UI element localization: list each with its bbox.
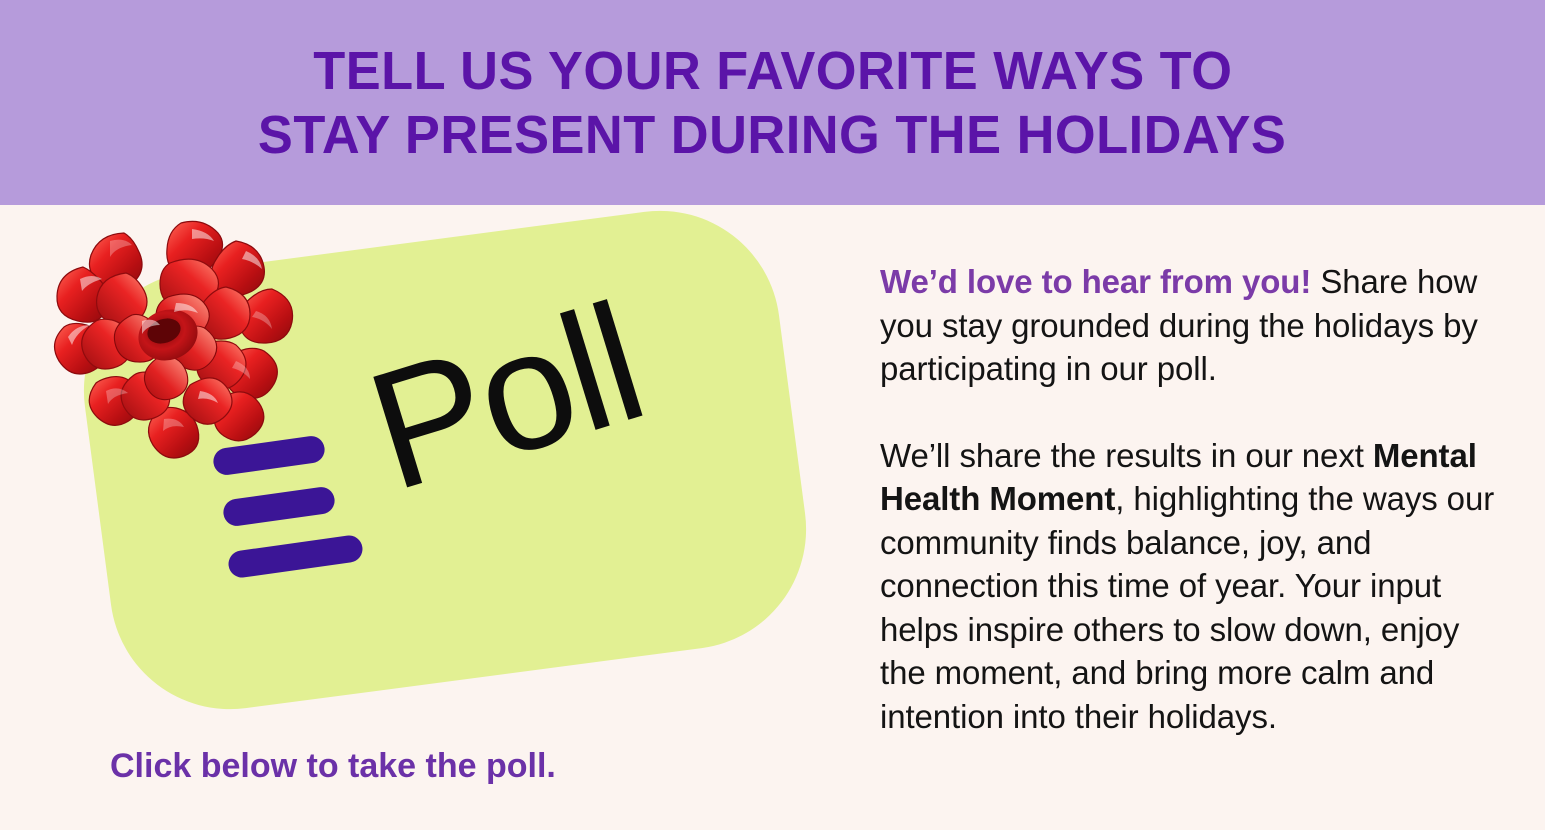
main-content: Poll <box>0 205 1545 830</box>
gift-bow-icon <box>50 215 320 465</box>
description-column: We’d love to hear from you! Share how yo… <box>880 260 1500 738</box>
header-line-1: TELL US YOUR FAVORITE WAYS TO <box>313 39 1232 103</box>
header-banner: TELL US YOUR FAVORITE WAYS TO STAY PRESE… <box>0 0 1545 205</box>
paragraph-2-before: We’ll share the results in our next <box>880 437 1373 474</box>
poll-promo-graphic: TELL US YOUR FAVORITE WAYS TO STAY PRESE… <box>0 0 1545 830</box>
paragraph-1: We’d love to hear from you! Share how yo… <box>880 260 1500 391</box>
paragraph-2: We’ll share the results in our next Ment… <box>880 434 1500 739</box>
paragraph-2-after: , highlighting the ways our community fi… <box>880 480 1494 735</box>
poll-cta-caption: Click below to take the poll. <box>110 745 556 787</box>
poll-graphic-column: Poll <box>0 205 860 830</box>
header-line-2: STAY PRESENT DURING THE HOLIDAYS <box>258 103 1286 167</box>
paragraph-1-lead: We’d love to hear from you! <box>880 263 1311 300</box>
